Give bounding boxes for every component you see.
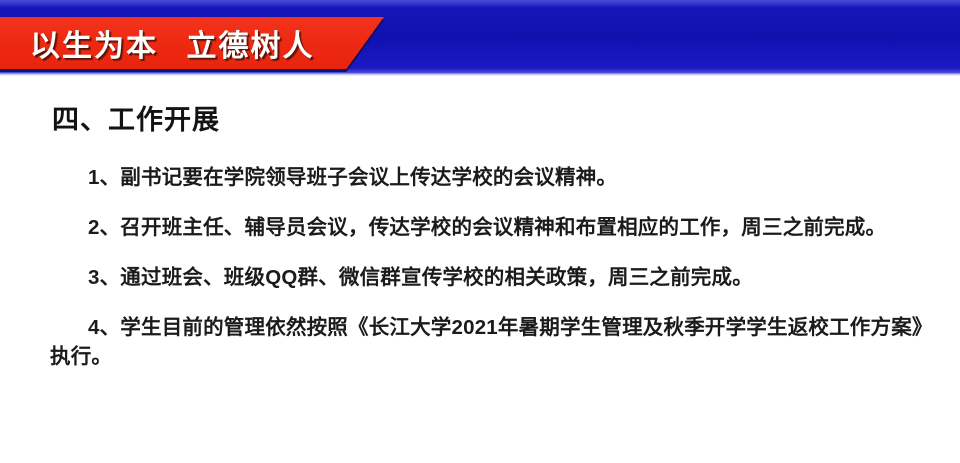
- body-item-2: 2、召开班主任、辅导员会议，传达学校的会议精神和布置相应的工作，周三之前完成。: [50, 213, 926, 242]
- slogan-text: 以生为本 立德树人: [30, 21, 315, 65]
- body-content: 1、副书记要在学院领导班子会议上传达学校的会议精神。 2、召开班主任、辅导员会议…: [50, 163, 926, 372]
- header-underline: [0, 73, 960, 76]
- slide-canvas: 以生为本 立德树人 四、工作开展 1、副书记要在学院领导班子会议上传达学校的会议…: [0, 0, 960, 463]
- body-item-3: 3、通过班会、班级QQ群、微信群宣传学校的相关政策，周三之前完成。: [50, 263, 926, 292]
- body-item-1: 1、副书记要在学院领导班子会议上传达学校的会议精神。: [50, 163, 926, 192]
- page-title: 四、工作开展: [52, 98, 220, 137]
- slogan-banner: 以生为本 立德树人: [0, 17, 384, 69]
- body-item-4: 4、学生目前的管理依然按照《长江大学2021年暑期学生管理及秋季开学学生返校工作…: [50, 313, 926, 371]
